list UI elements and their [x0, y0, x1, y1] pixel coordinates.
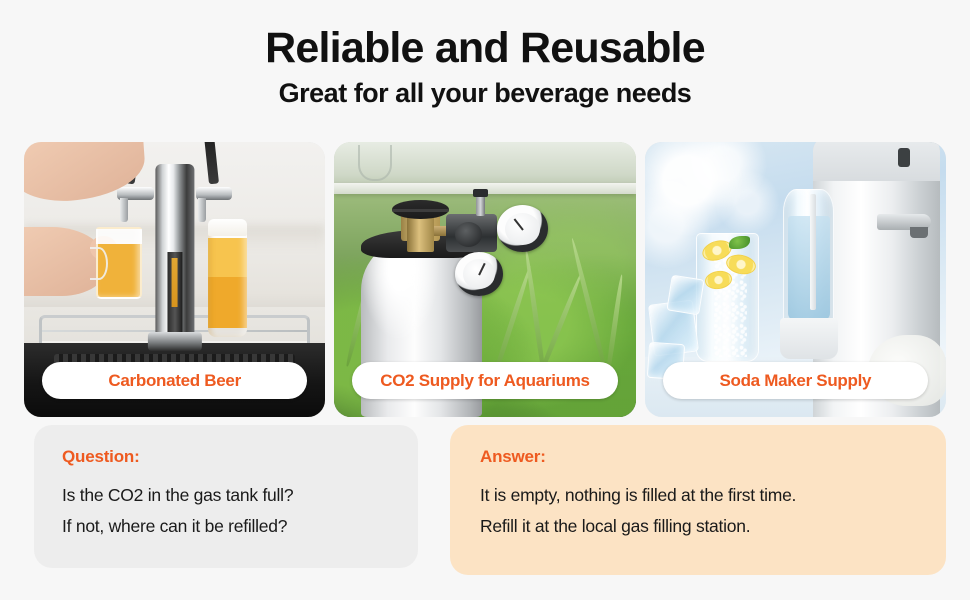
- feature-card-co2-aquarium[interactable]: CO2 Supply for Aquariums: [334, 142, 635, 417]
- page-subtitle: Great for all your beverage needs: [0, 78, 970, 109]
- feature-card-row: Carbonated Beer: [24, 142, 946, 417]
- page-title: Reliable and Reusable: [0, 26, 970, 71]
- card-label-text: Soda Maker Supply: [719, 371, 871, 391]
- question-line-2: If not, where can it be refilled?: [62, 511, 392, 542]
- pressure-gauge-icon: [455, 252, 503, 296]
- question-panel: Question: Is the CO2 in the gas tank ful…: [34, 425, 418, 568]
- header: Reliable and Reusable Great for all your…: [0, 0, 970, 109]
- card-label-pill-carbonated-beer[interactable]: Carbonated Beer: [42, 362, 307, 399]
- card-label-pill-co2-aquarium[interactable]: CO2 Supply for Aquariums: [352, 362, 617, 399]
- question-line-1: Is the CO2 in the gas tank full?: [62, 480, 392, 511]
- pressure-gauge-icon: [497, 205, 548, 252]
- question-label: Question:: [62, 447, 392, 467]
- feature-card-soda-maker[interactable]: Soda Maker Supply: [645, 142, 946, 417]
- answer-label: Answer:: [480, 447, 920, 467]
- card-label-text: Carbonated Beer: [108, 371, 240, 391]
- answer-line-1: It is empty, nothing is filled at the fi…: [480, 480, 920, 511]
- answer-panel: Answer: It is empty, nothing is filled a…: [450, 425, 946, 575]
- card-label-text: CO2 Supply for Aquariums: [380, 371, 589, 391]
- card-label-pill-soda-maker[interactable]: Soda Maker Supply: [663, 362, 928, 399]
- feature-card-carbonated-beer[interactable]: Carbonated Beer: [24, 142, 325, 417]
- answer-line-2: Refill it at the local gas filling stati…: [480, 511, 920, 542]
